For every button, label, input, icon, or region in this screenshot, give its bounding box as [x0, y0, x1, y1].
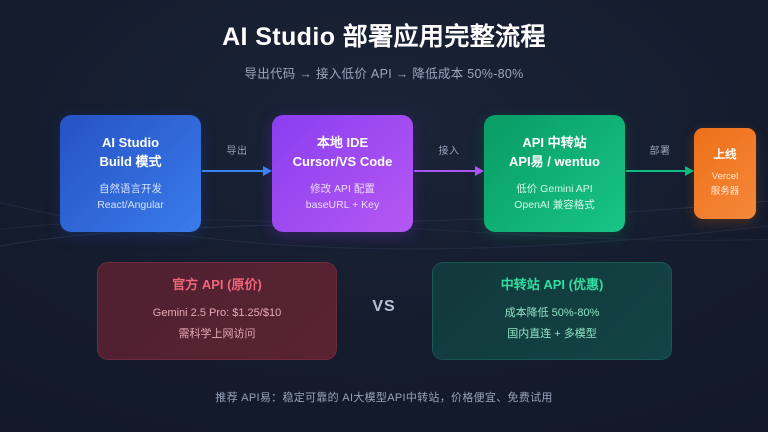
flow-step-relay[interactable]: API 中转站 API易 / wentuo 低价 Gemini API Open… [484, 115, 625, 232]
comparison-relay-line-2: 国内直连 + 多模型 [505, 325, 600, 344]
arrow-deploy-label: 部署 [626, 142, 694, 157]
arrow-export: 导出 [202, 158, 272, 184]
comparison-official-line-2: 需科学上网访问 [153, 325, 281, 344]
arrow-export-label: 导出 [202, 142, 272, 157]
arrow-deploy-shaft [626, 170, 686, 172]
flow-step-live-desc: Vercel 服务器 [711, 170, 740, 199]
flow-step-relay-desc: 低价 Gemini API OpenAI 兼容格式 [514, 181, 595, 214]
arrow-deploy: 部署 [626, 158, 694, 184]
flow-step-relay-title: API 中转站 API易 / wentuo [509, 134, 600, 172]
flow-step-live-title: 上线 [714, 147, 737, 164]
flow-step-ide[interactable]: 本地 IDE Cursor/VS Code 修改 API 配置 baseURL … [272, 115, 413, 232]
arrow-export-shaft [202, 170, 264, 172]
slide-canvas: AI Studio 部署应用完整流程 导出代码 → 接入低价 API → 降低成… [0, 0, 768, 432]
arrow-access: 接入 [414, 158, 484, 184]
comparison-card-official[interactable]: 官方 API (原价) Gemini 2.5 Pro: $1.25/$10 需科… [97, 262, 337, 360]
flow-step-build-desc: 自然语言开发 React/Angular [97, 181, 164, 214]
header: AI Studio 部署应用完整流程 导出代码 → 接入低价 API → 降低成… [0, 22, 768, 82]
comparison-relay-line-1: 成本降低 50%-80% [505, 304, 600, 323]
flow-step-build-title: AI Studio Build 模式 [99, 134, 161, 172]
arrow-right-icon [263, 166, 272, 176]
arrow-right-icon [475, 166, 484, 176]
flow-step-ide-desc: 修改 API 配置 baseURL + Key [306, 181, 379, 214]
arrow-access-label: 接入 [414, 142, 484, 157]
page-subtitle: 导出代码 → 接入低价 API → 降低成本 50%-80% [0, 63, 768, 82]
flow-step-ide-title: 本地 IDE Cursor/VS Code [293, 134, 393, 172]
comparison-official-details: Gemini 2.5 Pro: $1.25/$10 需科学上网访问 [153, 302, 281, 345]
flow-step-build[interactable]: AI Studio Build 模式 自然语言开发 React/Angular [60, 115, 201, 232]
flow-step-live[interactable]: 上线 Vercel 服务器 [694, 128, 756, 219]
comparison-card-relay[interactable]: 中转站 API (优惠) 成本降低 50%-80% 国内直连 + 多模型 [432, 262, 672, 360]
footer-note: 推荐 API易：稳定可靠的 AI大模型API中转站，价格便宜、免费试用 [0, 389, 768, 405]
comparison-official-line-1: Gemini 2.5 Pro: $1.25/$10 [153, 304, 281, 323]
comparison-relay-details: 成本降低 50%-80% 国内直连 + 多模型 [505, 302, 600, 345]
vs-label: VS [352, 298, 416, 316]
arrow-right-icon [685, 166, 694, 176]
comparison-relay-title: 中转站 API (优惠) [501, 277, 604, 294]
comparison-official-title: 官方 API (原价) [172, 277, 262, 294]
page-title: AI Studio 部署应用完整流程 [0, 22, 768, 52]
arrow-access-shaft [414, 170, 476, 172]
